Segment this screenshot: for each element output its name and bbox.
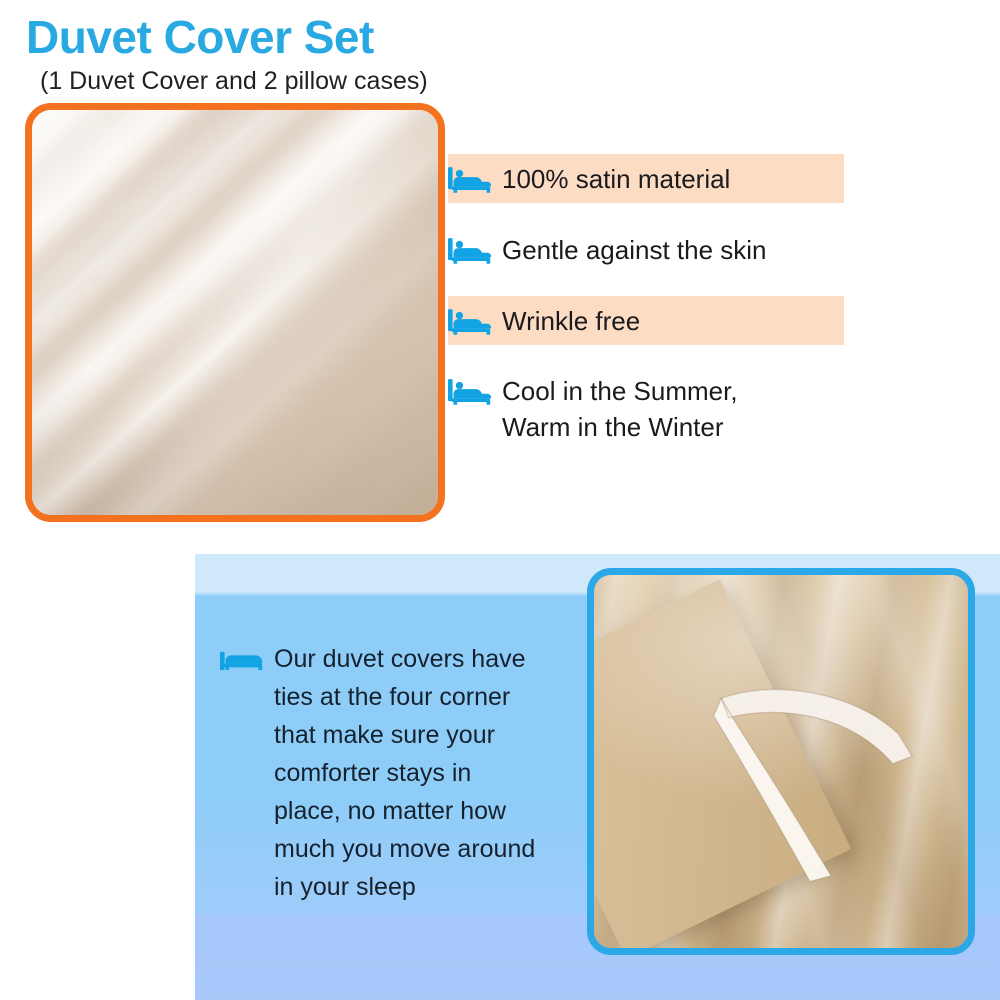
- page-subtitle: (1 Duvet Cover and 2 pillow cases): [40, 69, 428, 94]
- tie-description-text: Our duvet covers have ties at the four c…: [274, 640, 535, 906]
- feature-item-3: Wrinkle free: [448, 303, 640, 340]
- bed-icon: [448, 377, 492, 410]
- feature-item-1: 100% satin material: [448, 161, 730, 198]
- feature-item-2: Gentle against the skin: [448, 232, 767, 269]
- bed-icon: [448, 307, 492, 340]
- feature-label: Cool in the Summer, Warm in the Winter: [502, 373, 738, 445]
- fabric-vignette-layer: [32, 110, 438, 515]
- bed-icon: [448, 236, 492, 269]
- feature-label: Gentle against the skin: [502, 232, 767, 268]
- feature-item-4: Cool in the Summer, Warm in the Winter: [448, 373, 738, 445]
- page-title: Duvet Cover Set: [26, 14, 374, 60]
- bed-icon: [448, 165, 492, 198]
- bed-icon: [220, 646, 264, 679]
- tie-ribbons: [594, 575, 968, 948]
- fabric-swatch-image: [25, 103, 445, 522]
- tie-description-block: Our duvet covers have ties at the four c…: [220, 640, 580, 906]
- feature-label: Wrinkle free: [502, 303, 640, 339]
- infographic-canvas: Duvet Cover Set (1 Duvet Cover and 2 pil…: [0, 0, 1000, 1000]
- feature-label: 100% satin material: [502, 161, 730, 197]
- duvet-tie-image: [587, 568, 975, 955]
